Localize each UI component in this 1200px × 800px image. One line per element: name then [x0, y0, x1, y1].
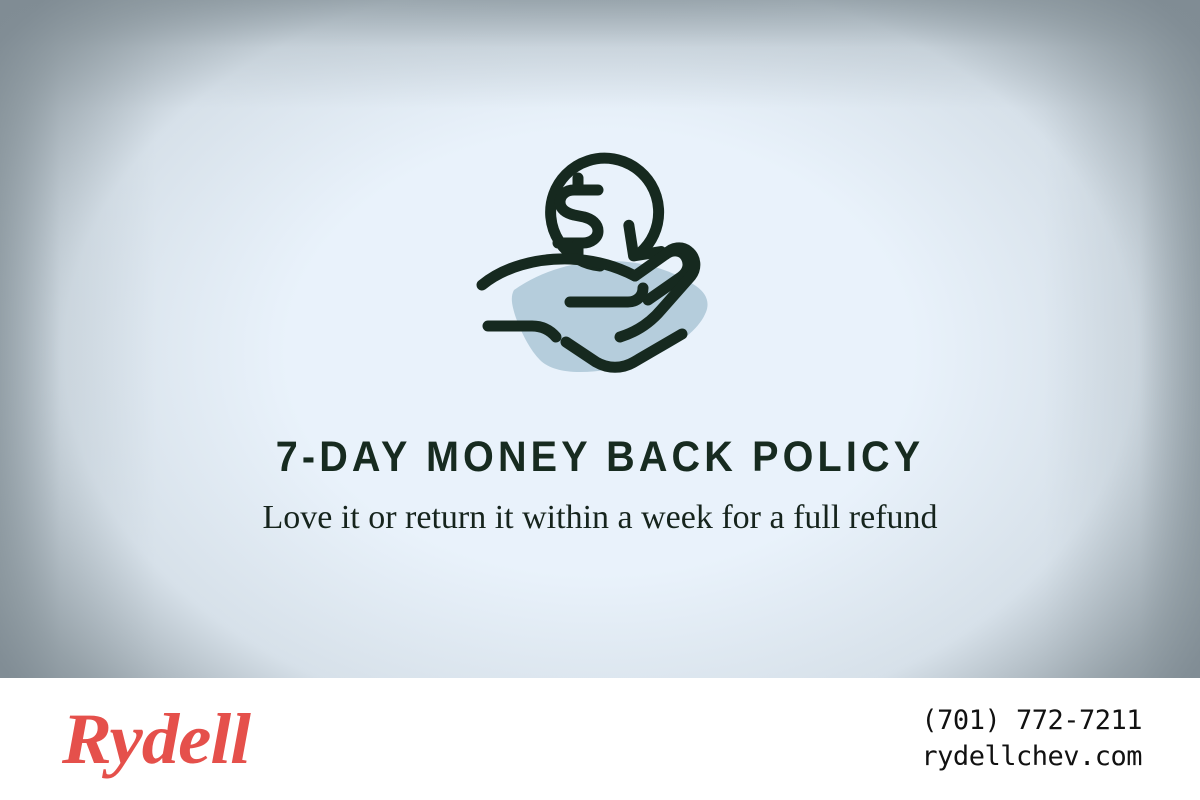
page-title: 7-DAY MONEY BACK POLICY — [48, 432, 1152, 482]
website-url[interactable]: rydellchev.com — [921, 739, 1142, 775]
promo-banner: 7-DAY MONEY BACK POLICY Love it or retur… — [0, 0, 1200, 800]
icon-container — [0, 150, 1200, 380]
contact-info: (701) 772-7211 rydellchev.com — [921, 703, 1142, 775]
footer-bar: Rydell (701) 772-7211 rydellchev.com — [0, 678, 1200, 800]
brand-logo[interactable]: Rydell — [62, 703, 250, 775]
page-subtitle: Love it or return it within a week for a… — [250, 496, 950, 540]
phone-number[interactable]: (701) 772-7211 — [921, 703, 1142, 739]
hero-section: 7-DAY MONEY BACK POLICY Love it or retur… — [0, 0, 1200, 678]
dollar-sign-icon — [558, 178, 598, 255]
money-back-hand-icon — [470, 150, 730, 380]
